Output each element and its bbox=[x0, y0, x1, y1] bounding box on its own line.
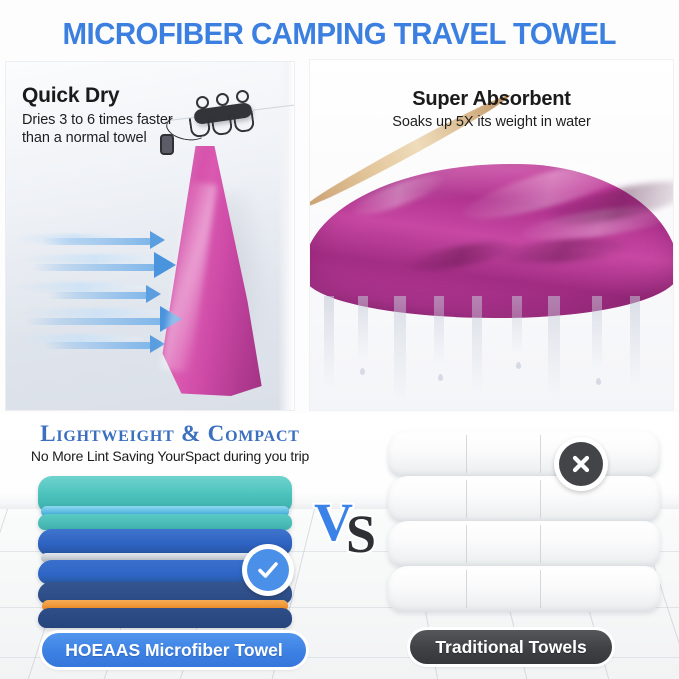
rack-hook-icon bbox=[211, 114, 234, 137]
lightweight-headline-group: Lightweight & Compact No More Lint Savin… bbox=[0, 421, 340, 464]
rack-hook-icon bbox=[233, 111, 256, 134]
lightweight-heading: Lightweight & Compact bbox=[0, 421, 340, 447]
top-panels-area: Quick Dry Dries 3 to 6 times faster than… bbox=[0, 60, 679, 413]
rack-screw-icon bbox=[236, 90, 249, 103]
microfiber-towel-stack bbox=[38, 476, 292, 618]
x-icon bbox=[559, 442, 603, 486]
traditional-towel-stack bbox=[388, 431, 660, 613]
page-title-bar: MICROFIBER CAMPING TRAVEL TOWEL bbox=[0, 8, 679, 60]
page-title: MICROFIBER CAMPING TRAVEL TOWEL bbox=[63, 16, 616, 52]
rack-screw-icon bbox=[196, 96, 209, 109]
super-absorbent-heading: Super Absorbent bbox=[310, 88, 673, 110]
rack-screw-icon bbox=[216, 93, 229, 106]
badge-hoeaas-microfiber-towel: HOEAAS Microfiber Towel bbox=[42, 633, 306, 667]
quick-dry-headline-group: Quick Dry Dries 3 to 6 times faster than… bbox=[22, 84, 173, 148]
versus-s: S bbox=[346, 507, 376, 561]
quick-dry-subtext-line2: than a normal towel bbox=[22, 129, 173, 148]
versus-mark: V S bbox=[312, 495, 398, 561]
quick-dry-subtext-line1: Dries 3 to 6 times faster bbox=[22, 111, 173, 130]
super-absorbent-subtext: Soaks up 5X its weight in water bbox=[310, 113, 673, 132]
quick-dry-heading: Quick Dry bbox=[22, 84, 173, 108]
check-icon bbox=[247, 549, 289, 591]
check-badge bbox=[242, 544, 294, 596]
water-drips bbox=[310, 296, 673, 410]
badge-traditional-towels: Traditional Towels bbox=[410, 630, 612, 664]
lightweight-subtext: No More Lint Saving YourSpact during you… bbox=[0, 448, 340, 464]
infographic-root: MICROFIBER CAMPING TRAVEL TOWEL Quick Dr… bbox=[0, 0, 679, 679]
panel-quick-dry: Quick Dry Dries 3 to 6 times faster than… bbox=[6, 62, 294, 410]
super-absorbent-headline-group: Super Absorbent Soaks up 5X its weight i… bbox=[310, 88, 673, 132]
wall-hook-rack-icon bbox=[174, 84, 284, 154]
panel-super-absorbent: Super Absorbent Soaks up 5X its weight i… bbox=[310, 60, 673, 410]
x-badge bbox=[554, 437, 608, 491]
